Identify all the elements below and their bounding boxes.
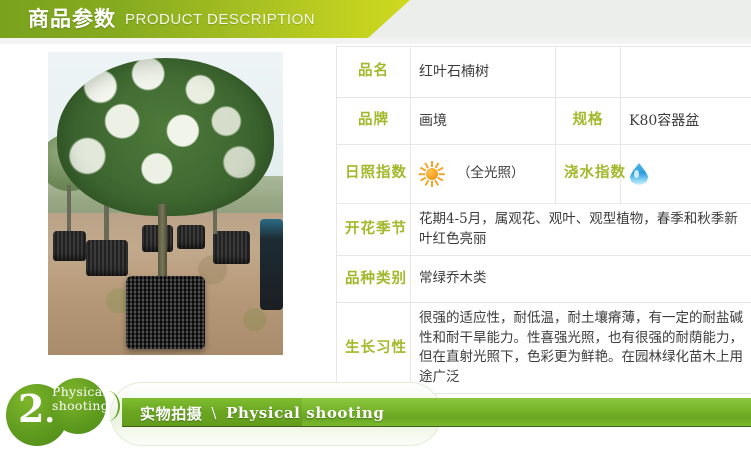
water-drop-icon-body xyxy=(629,163,649,185)
footer-bar-separator: \ xyxy=(211,404,217,422)
spec-value-sunlight-note: （全光照） xyxy=(457,164,525,184)
water-drop-icon xyxy=(629,161,649,187)
spec-label-product-name: 品名 xyxy=(337,47,411,98)
footer-badge-line2: shooting xyxy=(52,399,109,413)
product-description-page: 商品参数 PRODUCT DESCRIPTION xyxy=(0,0,751,449)
photo-bg-pot xyxy=(177,225,205,249)
footer-bar-text: 实物拍摄 \ Physical shooting xyxy=(140,399,384,427)
page-title-en: PRODUCT DESCRIPTION xyxy=(125,12,315,27)
spec-value-specification: K80容器盆 xyxy=(621,98,751,145)
spec-value-empty-1 xyxy=(621,47,751,98)
spec-label-variety-category: 品种类别 xyxy=(337,256,411,303)
table-row: 品牌 画境 规格 K80容器盆 xyxy=(337,98,751,145)
spec-label-flowering-season: 开花季节 xyxy=(337,204,411,256)
footer-bar-text-en: Physical shooting xyxy=(226,404,384,422)
photo-worker xyxy=(260,219,284,310)
table-row: 品名 红叶石楠树 xyxy=(337,47,751,98)
spec-value-sunlight-index: （全光照） xyxy=(411,145,556,204)
spec-label-specification: 规格 xyxy=(556,98,621,145)
spec-value-flowering-season: 花期4-5月，属观花、观叶、观型植物，春季和秋季新叶红色亮丽 xyxy=(411,204,751,256)
spec-value-product-name: 红叶石楠树 xyxy=(411,47,556,98)
spec-label-sunlight-index: 日照指数 xyxy=(337,145,411,204)
spec-value-brand: 画境 xyxy=(411,98,556,145)
sun-icon xyxy=(419,161,445,187)
page-title-cn: 商品参数 xyxy=(28,9,116,30)
table-row: 品种类别 常绿乔木类 xyxy=(337,256,751,303)
photo-bg-pot xyxy=(142,225,173,252)
table-row: 开花季节 花期4-5月，属观花、观叶、观型植物，春季和秋季新叶红色亮丽 xyxy=(337,204,751,256)
header-underline-strip xyxy=(0,38,751,44)
spec-table: 品名 红叶石楠树 品牌 画境 规格 K80容器盆 日照指数 xyxy=(336,46,751,394)
spec-label-watering-index: 浇水指数 xyxy=(556,145,621,204)
header-gray-strip xyxy=(368,0,751,38)
product-photo-image xyxy=(48,52,283,355)
photo-bg-pot xyxy=(86,240,128,276)
footer-badge-line1: Physical xyxy=(52,385,109,399)
spec-value-variety-category: 常绿乔木类 xyxy=(411,256,751,303)
table-row: 日照指数 （全光照） xyxy=(337,145,751,204)
photo-bg-pot xyxy=(213,231,251,264)
photo-tree-canopy xyxy=(57,58,273,216)
product-photo xyxy=(48,52,283,355)
section-header-banner: 商品参数 PRODUCT DESCRIPTION xyxy=(0,0,751,38)
footer-bar-text-cn: 实物拍摄 xyxy=(140,403,202,424)
header-title-group: 商品参数 PRODUCT DESCRIPTION xyxy=(0,0,410,38)
section-footer-banner: 2. Physical shooting 实物拍摄 \ Physical sho… xyxy=(0,378,751,449)
spec-label-brand: 品牌 xyxy=(337,98,411,145)
photo-bg-trunk xyxy=(67,185,72,233)
spec-label-empty-1 xyxy=(556,47,621,98)
water-drop-icon-highlight xyxy=(634,170,639,178)
footer-badge-text: Physical shooting xyxy=(52,385,109,413)
photo-container-pot xyxy=(126,276,206,349)
footer-step-number: 2. xyxy=(18,390,55,428)
spec-value-watering-index xyxy=(621,145,751,204)
photo-bg-pot xyxy=(53,231,86,261)
footer-step-number-value: 2 xyxy=(18,386,44,431)
